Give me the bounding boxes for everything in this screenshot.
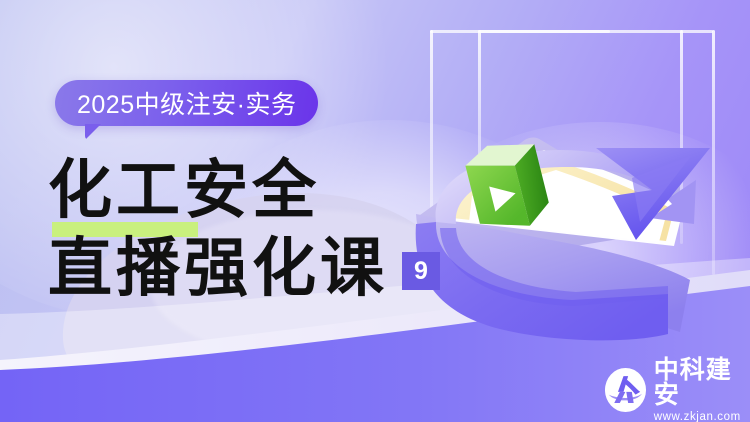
zkjan-logo-icon [605, 368, 646, 412]
course-tag-badge: 2025中级注安·实务 [55, 80, 318, 126]
headline-row-2: 直播强化课 9 [48, 230, 448, 308]
headline-line-1: 化工安全 [48, 152, 448, 230]
badge-tail [85, 124, 101, 140]
brand-name: 中科建安 [654, 357, 750, 407]
headline-block: 化工安全 直播强化课 9 [48, 152, 448, 308]
brand-logo: 中科建安 www.zkjan.com [605, 357, 750, 422]
brand-text: 中科建安 www.zkjan.com [654, 357, 750, 422]
course-poster: 2025中级注安·实务 化工安全 直播强化课 9 中科建安 www.zkj [0, 0, 750, 422]
course-tag-label: 2025中级注安·实务 [77, 85, 296, 121]
headline-row-1: 化工安全 [48, 152, 448, 230]
episode-number-badge: 9 [402, 252, 440, 290]
headline-line-2: 直播强化课 [48, 230, 388, 308]
brand-url: www.zkjan.com [654, 412, 750, 422]
